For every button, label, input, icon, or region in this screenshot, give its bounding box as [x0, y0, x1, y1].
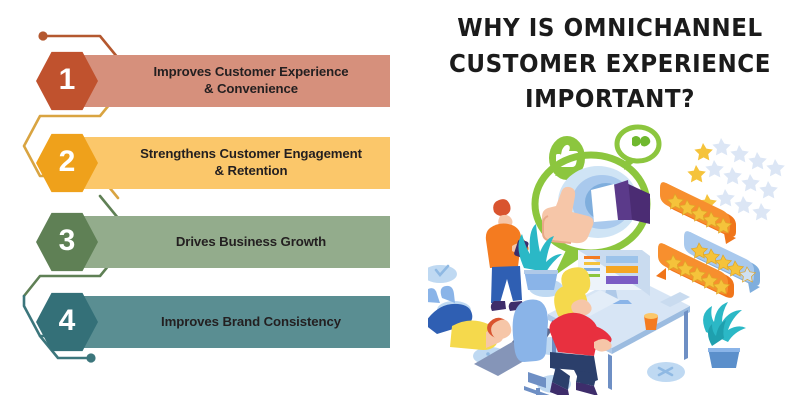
list-item[interactable]: Drives Business Growth 3 [0, 216, 420, 268]
omnichannel-illustration [428, 120, 800, 395]
list-item-label: Drives Business Growth [136, 234, 334, 251]
list-item-bar: Strengthens Customer Engagement & Retent… [80, 137, 390, 189]
numbered-list-panel: Improves Customer Experience & Convenien… [0, 0, 420, 400]
list-item-label: Strengthens Customer Engagement & Retent… [100, 146, 370, 180]
list-item[interactable]: Improves Customer Experience & Convenien… [0, 55, 420, 107]
page-title: Why is Omnichannel Customer Experience I… [420, 10, 800, 117]
list-item-number: 1 [59, 65, 76, 95]
list-item-label: Improves Customer Experience & Convenien… [113, 64, 356, 98]
title-line-3: Important? [435, 81, 785, 117]
right-panel: Why is Omnichannel Customer Experience I… [420, 0, 800, 400]
list-item[interactable]: Strengthens Customer Engagement & Retent… [0, 137, 420, 189]
list-item-bar: Drives Business Growth [80, 216, 390, 268]
title-line-1: Why is Omnichannel [435, 10, 785, 46]
potted-plant-right-icon [703, 302, 746, 368]
list-item-number: 2 [59, 147, 76, 177]
list-item-label: Improves Brand Consistency [121, 314, 349, 331]
list-item[interactable]: Improves Brand Consistency 4 [0, 296, 420, 348]
list-item-number: 3 [59, 226, 76, 256]
list-item-bar: Improves Customer Experience & Convenien… [80, 55, 390, 107]
list-item-number: 4 [59, 306, 76, 336]
title-line-2: Customer Experience [435, 46, 785, 82]
list-item-bar: Improves Brand Consistency [80, 296, 390, 348]
infographic-canvas: Improves Customer Experience & Convenien… [0, 0, 800, 400]
